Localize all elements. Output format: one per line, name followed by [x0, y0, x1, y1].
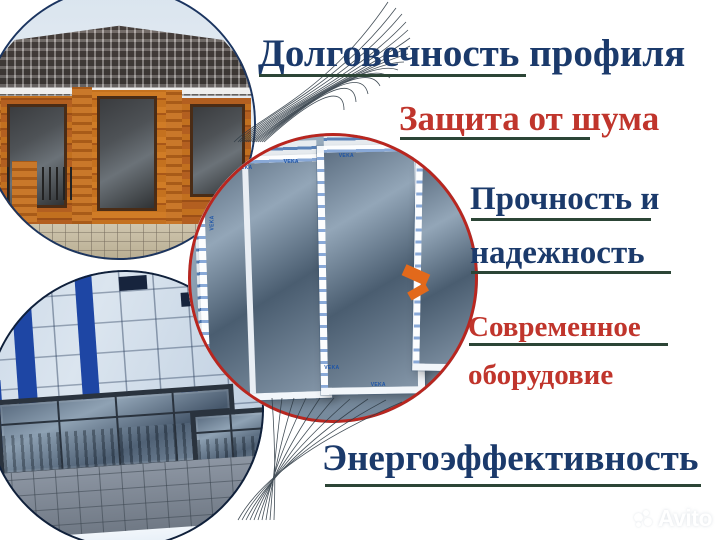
veka-brand-label-1: VEKA	[237, 165, 252, 171]
glass-pane-1	[203, 161, 325, 394]
window-center	[97, 96, 157, 211]
headline-efficiency-rule	[325, 484, 701, 487]
headline-strength-rule	[471, 218, 651, 221]
corner-post-right	[166, 90, 182, 227]
photo-circle-veka-windows: VEKA VEKA VEKA VEKA VEKA VEKA	[188, 133, 478, 423]
headline-modern-rule	[469, 343, 668, 346]
headline-reliability: надежность	[470, 237, 645, 270]
dark-vent-1	[119, 275, 148, 291]
pvc-window-frame-1	[195, 154, 331, 402]
veka-windows-photo: VEKA VEKA VEKA VEKA VEKA VEKA	[188, 133, 478, 423]
headline-noise-rule	[400, 137, 590, 140]
balcony-pillar	[12, 161, 37, 221]
headline-reliability-rule	[471, 271, 671, 274]
headline-durability-rule	[259, 74, 526, 77]
veka-brand-label-6: VEKA	[371, 382, 386, 388]
advertisement-poster: VEKA VEKA VEKA VEKA VEKA VEKA	[0, 0, 720, 540]
corner-post-left	[72, 87, 91, 229]
headline-strength: Прочность и	[470, 183, 659, 216]
headline-noise: Защита от шума	[399, 101, 659, 136]
veka-brand-label-5: VEKA	[324, 365, 339, 371]
headline-efficiency: Энергоэффективность	[322, 440, 698, 477]
headline-equipment: оборудовие	[468, 361, 613, 390]
veka-protective-film-top-1	[202, 141, 316, 166]
veka-brand-label-3: VEKA	[339, 153, 354, 159]
headline-modern: Современное	[468, 313, 641, 342]
avito-watermark-text: Avito	[658, 505, 712, 532]
veka-brand-label-2: VEKA	[284, 159, 299, 165]
avito-watermark: Avito	[634, 505, 712, 532]
veka-brand-label-4: VEKA	[210, 215, 216, 230]
headline-durability: Долговечность профиля	[258, 34, 685, 73]
avito-dots-icon	[634, 510, 654, 528]
corner-post-far-left	[0, 96, 1, 228]
